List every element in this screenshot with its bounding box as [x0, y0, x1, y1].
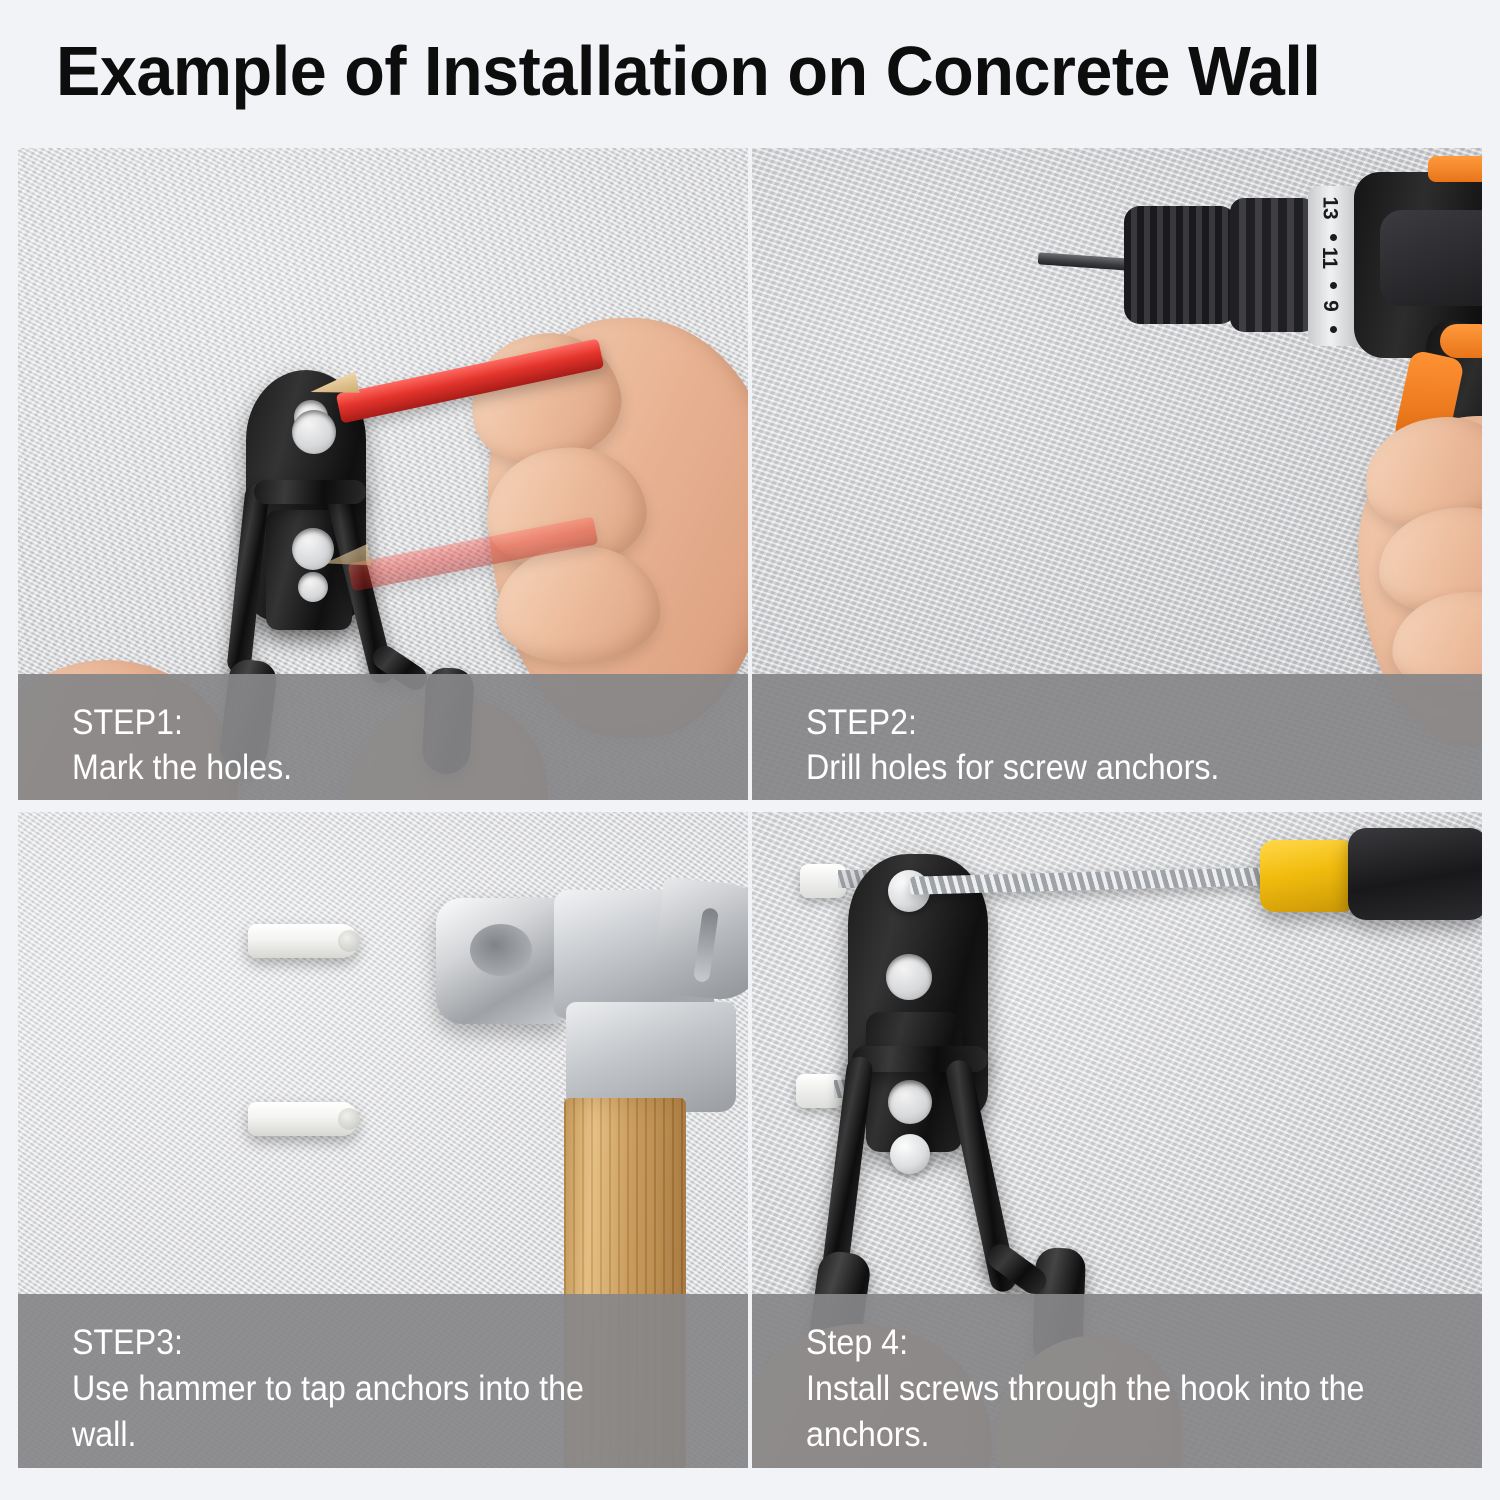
mounting-hole-lower-large [292, 528, 334, 570]
screwdriver-handle-yellow [1260, 840, 1356, 912]
step-panel-3: STEP3: Use hammer to tap anchors into th… [18, 812, 748, 1468]
mounting-hole-bottom [298, 572, 328, 602]
torque-dot-2 [1330, 282, 1337, 289]
step-panel-1: STEP1: Mark the holes. [18, 148, 748, 800]
step-panel-2: 13 11 9 [752, 148, 1482, 800]
drill-body-grip-pad [1380, 210, 1482, 306]
drill-top-accent [1428, 156, 1482, 182]
mounting-hole-upper-large [292, 410, 336, 454]
mounting-hole-lower [888, 1080, 932, 1124]
step-4-text-line-1: Install screws through the hook into the [806, 1366, 1428, 1412]
step-3-label: STEP3: [72, 1320, 694, 1366]
hammer-face-shadow [470, 924, 532, 976]
step-3-text-line-2: wall. [72, 1412, 694, 1458]
step-2-text: Drill holes for screw anchors. [806, 745, 1428, 790]
screwdriver-handle-black [1348, 828, 1482, 920]
step-3-caption: STEP3: Use hammer to tap anchors into th… [18, 1294, 748, 1468]
wall-anchor-lower-bore [338, 1108, 360, 1130]
step-1-label: STEP1: [72, 700, 694, 745]
torque-dot-1 [1330, 234, 1337, 241]
torque-number-13: 13 [1318, 196, 1342, 219]
wall-anchor-upper-bore [338, 930, 360, 952]
step-1-text: Mark the holes. [72, 745, 694, 790]
step-1-caption: STEP1: Mark the holes. [18, 674, 748, 800]
torque-number-11: 11 [1317, 247, 1341, 269]
step-3-text-line-1: Use hammer to tap anchors into the [72, 1366, 694, 1412]
step-4-caption: Step 4: Install screws through the hook … [752, 1294, 1482, 1468]
step-4-label: Step 4: [806, 1320, 1428, 1366]
drill-chuck [1124, 206, 1236, 324]
torque-dot-3 [1330, 326, 1337, 333]
step-2-caption: STEP2: Drill holes for screw anchors. [752, 674, 1482, 800]
step-2-label: STEP2: [806, 700, 1428, 745]
hammer-head-collar [566, 1002, 736, 1112]
screw-head-bottom [890, 1134, 930, 1174]
mounting-hole-upper [886, 954, 932, 1000]
page-title: Example of Installation on Concrete Wall [56, 34, 1320, 108]
step-panel-4: Step 4: Install screws through the hook … [752, 812, 1482, 1468]
hook-bridge [254, 480, 366, 504]
drill-forward-reverse [1440, 324, 1482, 358]
step-4-text-line-2: anchors. [806, 1412, 1428, 1458]
torque-number-9: 9 [1318, 300, 1342, 312]
instruction-sheet: Example of Installation on Concrete Wall [0, 0, 1500, 1500]
drill-chuck-collar [1230, 198, 1316, 332]
steps-grid: STEP1: Mark the holes. 13 11 9 [18, 148, 1482, 1468]
